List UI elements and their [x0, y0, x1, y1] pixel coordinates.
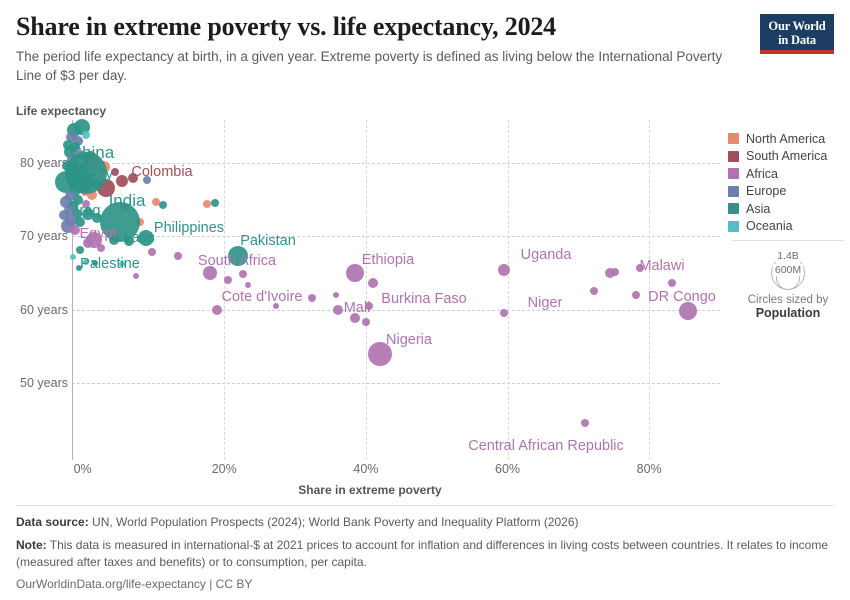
gridline-x-40 — [366, 120, 367, 460]
data-point-colombia[interactable] — [116, 175, 128, 187]
data-point[interactable] — [224, 276, 232, 284]
data-point[interactable] — [211, 199, 219, 207]
point-label-colombia: Colombia — [131, 164, 192, 180]
data-point[interactable] — [362, 318, 370, 326]
legend-item-label: Africa — [746, 167, 778, 181]
legend-item-label: Asia — [746, 202, 770, 216]
x-tick-label-60: 60% — [495, 462, 520, 476]
x-axis-title: Share in extreme poverty — [0, 483, 740, 497]
y-tick-label-80: 80 years — [8, 156, 68, 170]
note-text: This data is measured in international-$… — [16, 538, 828, 569]
scatter-plot: Life expectancy 50 years60 years70 years… — [0, 100, 850, 500]
owid-logo-line-2: in Data — [778, 33, 816, 47]
data-point[interactable] — [174, 252, 182, 260]
y-tick-label-50: 50 years — [8, 376, 68, 390]
legend-item-africa[interactable]: Africa — [728, 165, 848, 183]
data-point[interactable] — [203, 200, 211, 208]
data-point[interactable] — [590, 287, 598, 295]
data-point[interactable] — [368, 278, 378, 288]
y-axis-title: Life expectancy — [16, 104, 106, 118]
legend-item-label: Oceania — [746, 219, 793, 233]
size-label-small: 600M — [773, 264, 803, 276]
chart-header: Share in extreme poverty vs. life expect… — [16, 12, 834, 85]
point-label-philippines: Philippines — [154, 220, 224, 236]
data-point-uganda[interactable] — [498, 264, 510, 276]
data-point-malawi[interactable] — [605, 268, 615, 278]
point-label-south-africa: South Africa — [198, 253, 276, 269]
point-label-nigeria: Nigeria — [386, 332, 432, 348]
point-label-turkey: Turkey — [69, 167, 113, 183]
legend-item-south-america[interactable]: South America — [728, 148, 848, 166]
legend-item-north-america[interactable]: North America — [728, 130, 848, 148]
point-label-malawi: Malawi — [639, 258, 684, 274]
size-legend-caption: Circles sized by — [728, 294, 848, 306]
population-size-legend: 1.4B 600M Circles sized by Population — [728, 240, 848, 320]
point-label-pakistan: Pakistan — [240, 233, 296, 249]
owid-logo-line-1: Our World — [768, 19, 825, 33]
license-link[interactable]: OurWorldinData.org/life-expectancy | CC … — [16, 577, 834, 591]
legend-swatch-icon — [728, 186, 739, 197]
data-point[interactable] — [668, 279, 676, 287]
chart-footer: Data source: UN, World Population Prospe… — [16, 505, 834, 591]
point-label-egypt: Egypt — [79, 226, 116, 242]
chart-subtitle: The period life expectancy at birth, in … — [16, 48, 746, 85]
footer-divider — [16, 505, 834, 506]
gridline-y-50 — [72, 383, 720, 384]
data-point-niger[interactable] — [500, 309, 508, 317]
point-label-ethiopia: Ethiopia — [362, 252, 414, 268]
x-tick-label-80: 80% — [637, 462, 662, 476]
point-label-niger: Niger — [528, 295, 563, 311]
data-point[interactable] — [245, 282, 251, 288]
data-point-mali[interactable] — [333, 305, 343, 315]
legend-item-label: Europe — [746, 184, 786, 198]
y-tick-label-70: 70 years — [8, 229, 68, 243]
data-point[interactable] — [76, 246, 84, 254]
legend-swatch-icon — [728, 203, 739, 214]
data-point-cote-d-ivoire[interactable] — [212, 305, 222, 315]
gridline-x-60 — [508, 120, 509, 460]
page-title: Share in extreme poverty vs. life expect… — [16, 12, 834, 41]
gridline-y-70 — [72, 236, 720, 237]
legend-item-label: North America — [746, 132, 825, 146]
data-source-text: UN, World Population Prospects (2024); W… — [92, 515, 578, 529]
legend-item-label: South America — [746, 149, 827, 163]
data-point[interactable] — [239, 270, 247, 278]
data-point[interactable] — [148, 248, 156, 256]
legend-item-europe[interactable]: Europe — [728, 183, 848, 201]
size-legend-metric: Population — [728, 306, 848, 320]
x-tick-label-40: 40% — [353, 462, 378, 476]
y-tick-label-60: 60 years — [8, 303, 68, 317]
size-label-large: 1.4B — [775, 250, 801, 262]
point-label-india: India — [109, 191, 146, 211]
continent-legend: North AmericaSouth AmericaAfricaEuropeAs… — [728, 130, 848, 235]
data-point[interactable] — [333, 292, 339, 298]
legend-swatch-icon — [728, 151, 739, 162]
legend-divider — [732, 240, 844, 241]
point-label-uganda: Uganda — [521, 247, 572, 263]
point-label-china: China — [70, 143, 114, 163]
data-point[interactable] — [159, 201, 167, 209]
note-line: Note: This data is measured in internati… — [16, 537, 834, 571]
data-point[interactable] — [308, 294, 316, 302]
point-label-cote-d-ivoire: Cote d'Ivoire — [222, 289, 303, 305]
data-point[interactable] — [632, 291, 640, 299]
point-label-mali: Mali — [344, 300, 371, 316]
data-point-central-african-republic[interactable] — [581, 419, 589, 427]
data-source-label: Data source: — [16, 515, 89, 529]
data-point[interactable] — [82, 131, 90, 139]
legend-item-asia[interactable]: Asia — [728, 200, 848, 218]
point-label-iraq: Iraq — [76, 203, 101, 219]
point-label-palestine: Palestine — [80, 256, 140, 272]
legend-swatch-icon — [728, 133, 739, 144]
gridline-y-60 — [72, 310, 720, 311]
point-label-central-african-republic: Central African Republic — [468, 438, 624, 454]
note-label: Note: — [16, 538, 47, 552]
owid-logo[interactable]: Our World in Data — [760, 14, 834, 54]
legend-swatch-icon — [728, 168, 739, 179]
size-legend-circles: 1.4B 600M — [728, 248, 848, 292]
data-point[interactable] — [133, 273, 139, 279]
x-tick-label-20: 20% — [212, 462, 237, 476]
point-label-dr-congo: DR Congo — [648, 289, 716, 305]
x-tick-label-0: 0% — [74, 462, 92, 476]
legend-item-oceania[interactable]: Oceania — [728, 218, 848, 236]
legend-swatch-icon — [728, 221, 739, 232]
point-label-burkina-faso: Burkina Faso — [381, 291, 466, 307]
data-point[interactable] — [70, 254, 76, 260]
point-label-laos: Laos — [123, 230, 154, 246]
data-source-line: Data source: UN, World Population Prospe… — [16, 514, 834, 531]
